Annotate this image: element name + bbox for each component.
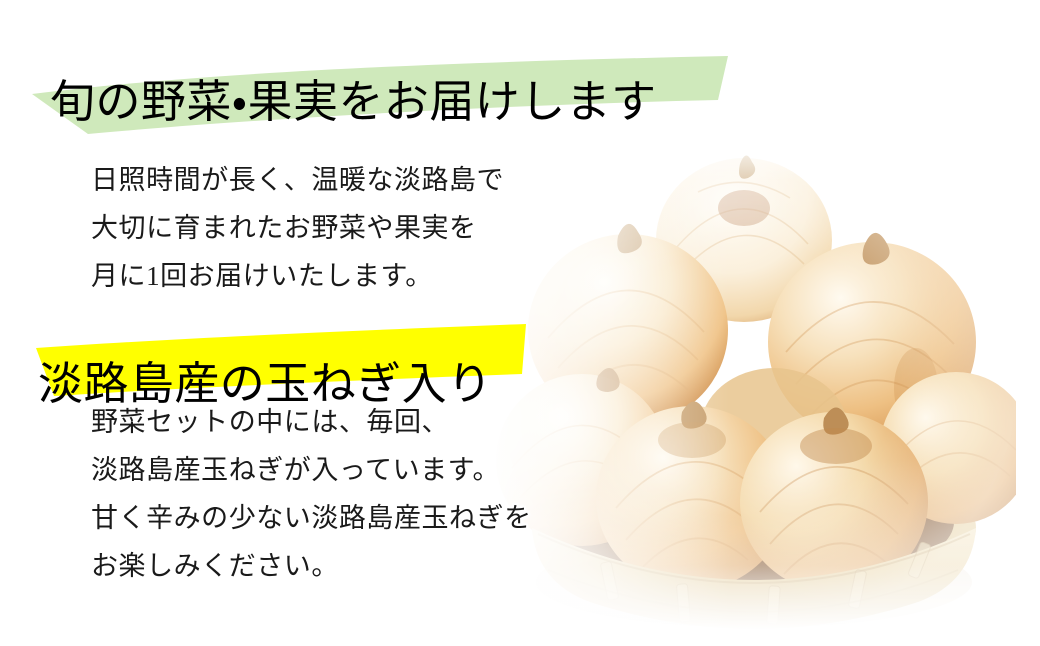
intro-paragraph: 日照時間が長く、温暖な淡路島で 大切に育まれたお野菜や果実を 月に1回お届けいた…: [91, 156, 504, 300]
onion-far-right: [880, 372, 1016, 524]
intro-line: 大切に育まれたお野菜や果実を: [91, 204, 504, 252]
onions-in-basket-photo: [486, 130, 1016, 630]
onion-line: 甘く辛みの少ない淡路島産玉ねぎを: [91, 494, 532, 542]
onion-description-paragraph: 野菜セットの中には、毎回、 淡路島産玉ねぎが入っています。 甘く辛みの少ない淡路…: [91, 398, 532, 590]
onion-line: 淡路島産玉ねぎが入っています。: [91, 446, 532, 494]
basket-front-rim: [532, 528, 976, 629]
intro-line: 月に1回お届けいたします。: [91, 252, 504, 300]
onion-left-back: [528, 224, 728, 426]
intro-line: 日照時間が長く、温暖な淡路島で: [91, 156, 504, 204]
onion-front-right: [740, 407, 928, 592]
promo-banner-page: 旬の野菜・果実をお届けします 日照時間が長く、温暖な淡路島で 大切に育まれたお野…: [0, 0, 1040, 646]
onion-right-back: [768, 233, 976, 442]
onion-line: お楽しみください。: [91, 542, 532, 590]
onion-line: 野菜セットの中には、毎回、: [91, 398, 532, 446]
page-title: 旬の野菜・果実をお届けします: [50, 75, 657, 129]
onion-center-back: [700, 368, 848, 492]
onion-front-left: [596, 401, 788, 590]
onion-top-center: [656, 155, 832, 322]
